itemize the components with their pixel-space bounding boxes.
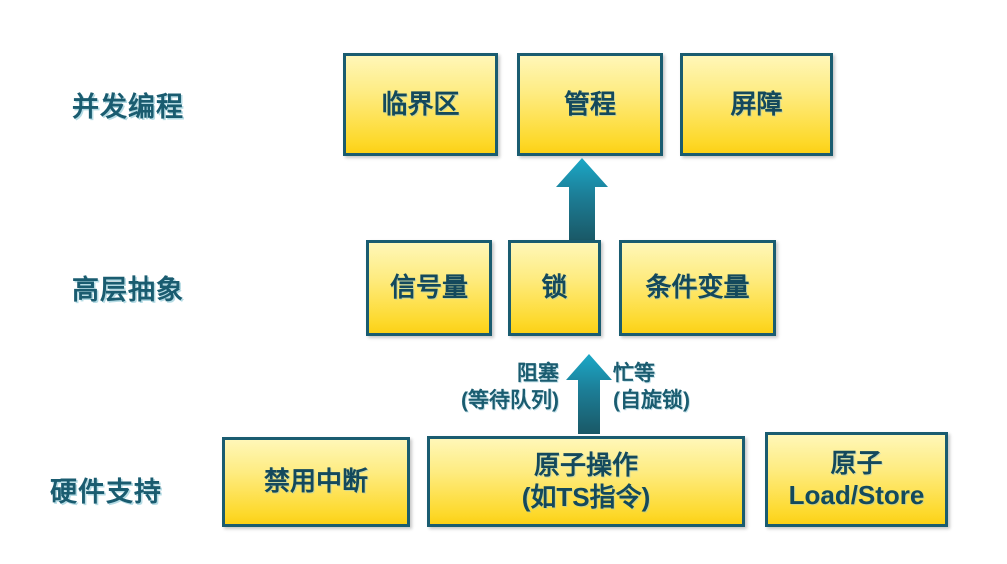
box-critical-section[interactable]: 临界区	[343, 53, 498, 156]
box-atomic-load-store[interactable]: 原子 Load/Store	[765, 432, 948, 527]
box-barrier-label: 屏障	[724, 89, 788, 121]
box-disable-interrupt[interactable]: 禁用中断	[222, 437, 410, 527]
box-barrier[interactable]: 屏障	[680, 53, 833, 156]
row-label-concurrent-programming: 并发编程	[72, 85, 184, 124]
box-monitor[interactable]: 管程	[517, 53, 663, 156]
arrow-atomic-to-lock-icon	[563, 352, 615, 434]
box-atomic-load-store-label: 原子 Load/Store	[783, 448, 931, 511]
box-critical-section-label: 临界区	[375, 89, 465, 121]
arrow-lock-to-monitor-icon	[553, 156, 611, 241]
row-label-high-level-abstraction: 高层抽象	[72, 268, 184, 307]
edge-label-busy-wait: 忙等 (自旋锁)	[613, 361, 773, 415]
box-semaphore-label: 信号量	[384, 272, 474, 304]
box-lock-label: 锁	[535, 272, 573, 304]
box-atomic-operation-label: 原子操作 (如TS指令)	[516, 450, 657, 513]
box-lock[interactable]: 锁	[508, 240, 601, 336]
box-semaphore[interactable]: 信号量	[366, 240, 492, 336]
row-label-hardware-support: 硬件支持	[50, 470, 162, 509]
box-disable-interrupt-label: 禁用中断	[258, 466, 374, 498]
box-monitor-label: 管程	[558, 89, 622, 121]
box-condition-variable[interactable]: 条件变量	[619, 240, 776, 336]
edge-label-blocking: 阻塞 (等待队列)	[404, 361, 559, 415]
box-atomic-operation[interactable]: 原子操作 (如TS指令)	[427, 436, 745, 527]
box-condition-variable-label: 条件变量	[639, 272, 755, 304]
diagram-canvas: 并发编程 临界区 管程 屏障 高层抽象 信号量 锁 条件变量	[0, 0, 1007, 564]
